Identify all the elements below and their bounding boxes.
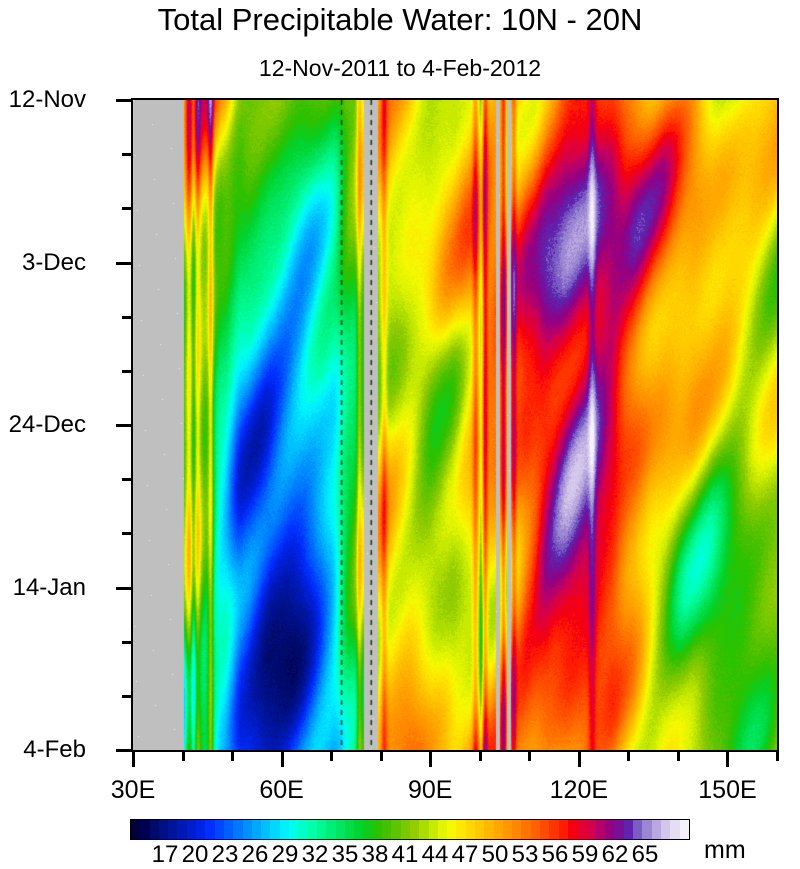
colorbar-tick-label-5: 32 bbox=[302, 841, 329, 869]
colorbar-cell bbox=[363, 820, 372, 839]
colorbar-cell bbox=[270, 820, 279, 839]
colorbar-cell bbox=[410, 820, 419, 839]
y-tick-major bbox=[116, 424, 131, 427]
colorbar-cell bbox=[419, 820, 428, 839]
x-tick-minor bbox=[528, 752, 531, 761]
colorbar-cell bbox=[215, 820, 224, 839]
colorbar-cell bbox=[308, 820, 317, 839]
colorbar-cell bbox=[456, 820, 465, 839]
colorbar-tick-label-6: 35 bbox=[332, 841, 359, 869]
colorbar-tick-label-15: 62 bbox=[602, 841, 629, 869]
y-tick-minor bbox=[122, 316, 131, 319]
colorbar-cell bbox=[642, 820, 651, 839]
y-tick-label-2: 24-Dec bbox=[9, 411, 86, 439]
x-tick-minor bbox=[231, 752, 234, 761]
x-tick-label-1: 60E bbox=[259, 776, 303, 805]
colorbar-tick-label-8: 41 bbox=[392, 841, 419, 869]
y-tick-major bbox=[116, 587, 131, 590]
colorbar-tick-label-9: 44 bbox=[422, 841, 449, 869]
y-tick-minor bbox=[122, 532, 131, 535]
colorbar-cell bbox=[336, 820, 345, 839]
x-tick-minor bbox=[479, 752, 482, 761]
x-tick-minor bbox=[380, 752, 383, 761]
colorbar-cell bbox=[540, 820, 549, 839]
colorbar-units-label: mm bbox=[704, 836, 746, 865]
x-tick-minor bbox=[627, 752, 630, 761]
y-tick-label-4: 4-Feb bbox=[23, 736, 86, 764]
colorbar-tick-label-0: 17 bbox=[152, 841, 179, 869]
colorbar-cell bbox=[391, 820, 400, 839]
x-tick-label-4: 150E bbox=[698, 776, 756, 805]
colorbar-cell bbox=[549, 820, 558, 839]
colorbar-cell bbox=[131, 820, 140, 839]
colorbar-cell bbox=[466, 820, 475, 839]
x-tick-label-2: 90E bbox=[408, 776, 452, 805]
colorbar-cell bbox=[326, 820, 335, 839]
colorbar-cell bbox=[503, 820, 512, 839]
colorbar-cell bbox=[177, 820, 186, 839]
colorbar-cell bbox=[531, 820, 540, 839]
x-tick-label-0: 30E bbox=[111, 776, 155, 805]
page-title: Total Precipitable Water: 10N - 20N bbox=[0, 2, 800, 38]
y-tick-label-0: 12-Nov bbox=[9, 86, 86, 114]
y-tick-minor bbox=[122, 641, 131, 644]
plot-area bbox=[131, 98, 779, 752]
colorbar-cell bbox=[233, 820, 242, 839]
colorbar-cell bbox=[577, 820, 586, 839]
colorbar-cell bbox=[140, 820, 149, 839]
x-tick-minor bbox=[677, 752, 680, 761]
y-tick-minor bbox=[122, 478, 131, 481]
colorbar-cell bbox=[289, 820, 298, 839]
colorbar-cell bbox=[494, 820, 503, 839]
colorbar-cell bbox=[429, 820, 438, 839]
colorbar-cell bbox=[261, 820, 270, 839]
x-tick-major bbox=[726, 752, 729, 767]
page-subtitle: 12-Nov-2011 to 4-Feb-2012 bbox=[0, 55, 800, 82]
x-tick-major bbox=[281, 752, 284, 767]
colorbar-cell bbox=[521, 820, 530, 839]
colorbar-cell bbox=[150, 820, 159, 839]
y-tick-minor bbox=[122, 153, 131, 156]
colorbar-cell bbox=[512, 820, 521, 839]
x-tick-major bbox=[132, 752, 135, 767]
colorbar-cell bbox=[484, 820, 493, 839]
colorbar-cell bbox=[252, 820, 261, 839]
colorbar-tick-label-13: 56 bbox=[542, 841, 569, 869]
x-tick-label-3: 120E bbox=[550, 776, 608, 805]
y-tick-minor bbox=[122, 370, 131, 373]
colorbar-cell bbox=[401, 820, 410, 839]
colorbar-tick-label-10: 47 bbox=[452, 841, 479, 869]
colorbar-cell bbox=[168, 820, 177, 839]
y-tick-major bbox=[116, 749, 131, 752]
colorbar-tick-label-2: 23 bbox=[212, 841, 239, 869]
colorbar-cell bbox=[596, 820, 605, 839]
colorbar-cell bbox=[680, 820, 689, 839]
colorbar-cell bbox=[345, 820, 354, 839]
colorbar-cell bbox=[605, 820, 614, 839]
colorbar-cell bbox=[382, 820, 391, 839]
colorbar-cell bbox=[568, 820, 577, 839]
colorbar-cell bbox=[196, 820, 205, 839]
colorbar-cell bbox=[438, 820, 447, 839]
colorbar-cell bbox=[624, 820, 633, 839]
colorbar-cell bbox=[614, 820, 623, 839]
y-tick-minor bbox=[122, 207, 131, 210]
colorbar-tick-label-16: 65 bbox=[632, 841, 659, 869]
colorbar-cell bbox=[317, 820, 326, 839]
heatmap-canvas bbox=[133, 100, 777, 750]
colorbar-cell bbox=[559, 820, 568, 839]
x-tick-minor bbox=[776, 752, 779, 761]
colorbar-tick-label-14: 59 bbox=[572, 841, 599, 869]
hovmoller-figure: Total Precipitable Water: 10N - 20N 12-N… bbox=[0, 0, 800, 866]
x-tick-major bbox=[429, 752, 432, 767]
colorbar-cell bbox=[243, 820, 252, 839]
colorbar-cell bbox=[224, 820, 233, 839]
colorbar-tick-label-1: 20 bbox=[182, 841, 209, 869]
y-tick-major bbox=[116, 262, 131, 265]
x-tick-minor bbox=[330, 752, 333, 761]
colorbar-cell bbox=[373, 820, 382, 839]
x-tick-major bbox=[578, 752, 581, 767]
colorbar-tick-label-11: 50 bbox=[482, 841, 509, 869]
colorbar-cell bbox=[159, 820, 168, 839]
colorbar-tick-label-4: 29 bbox=[272, 841, 299, 869]
y-tick-major bbox=[116, 99, 131, 102]
colorbar-cell bbox=[633, 820, 642, 839]
y-tick-minor bbox=[122, 695, 131, 698]
colorbar-tick-label-7: 38 bbox=[362, 841, 389, 869]
colorbar-cell bbox=[661, 820, 670, 839]
colorbar-cell bbox=[280, 820, 289, 839]
colorbar-cell bbox=[587, 820, 596, 839]
colorbar-cell bbox=[354, 820, 363, 839]
colorbar-tick-label-3: 26 bbox=[242, 841, 269, 869]
colorbar-tick-label-12: 53 bbox=[512, 841, 539, 869]
colorbar bbox=[130, 819, 690, 840]
x-tick-minor bbox=[182, 752, 185, 761]
colorbar-cell bbox=[475, 820, 484, 839]
colorbar-cell bbox=[447, 820, 456, 839]
colorbar-cell bbox=[187, 820, 196, 839]
colorbar-cell bbox=[298, 820, 307, 839]
colorbar-cell bbox=[652, 820, 661, 839]
y-tick-label-1: 3-Dec bbox=[22, 249, 86, 277]
colorbar-cell bbox=[205, 820, 214, 839]
y-tick-label-3: 14-Jan bbox=[13, 574, 86, 602]
colorbar-cell bbox=[670, 820, 679, 839]
